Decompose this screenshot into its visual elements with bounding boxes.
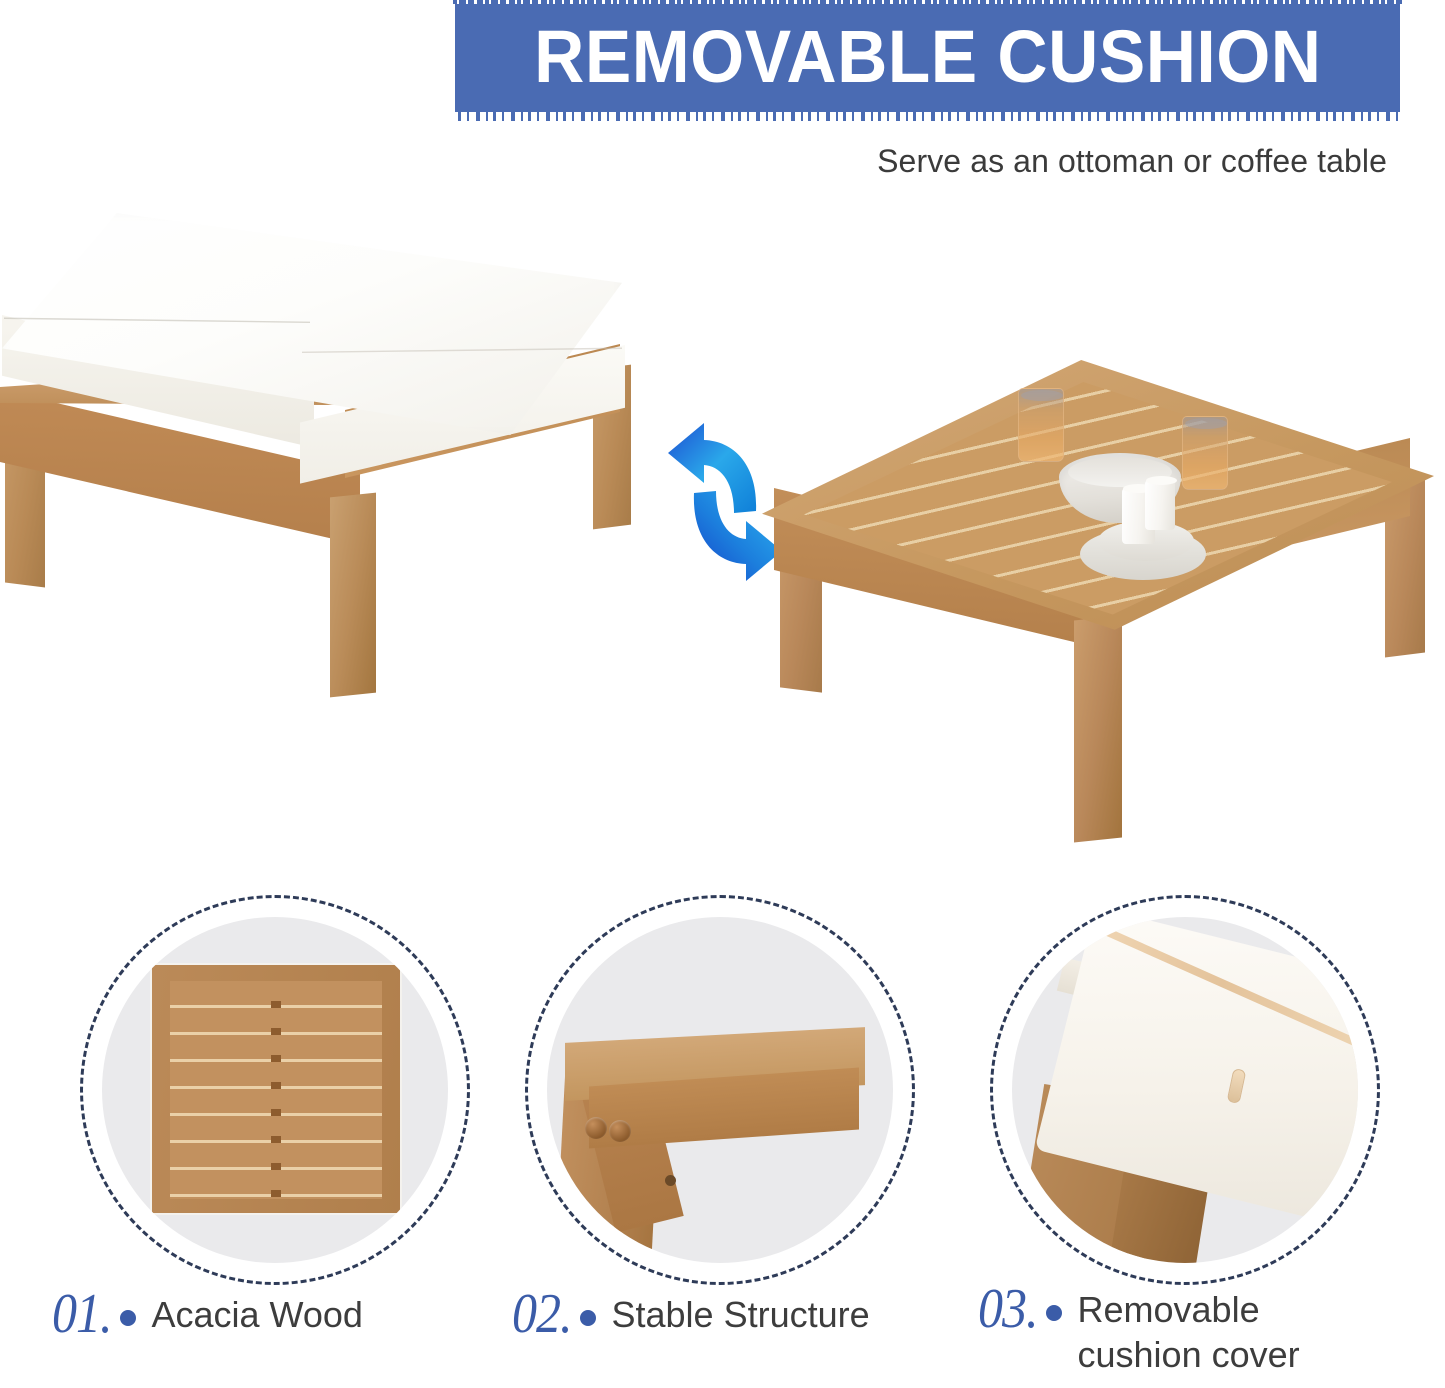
- coffee-table-product-image: [762, 360, 1434, 855]
- feature-number-3: 03.: [978, 1280, 1038, 1336]
- glass-tumbler-right: [1182, 416, 1228, 490]
- table-leg-front-center: [1074, 615, 1122, 842]
- feature-photo-2: [547, 917, 893, 1263]
- banner-title: REMOVABLE CUSHION: [534, 20, 1321, 98]
- feature-photo-1: [102, 917, 448, 1263]
- feature-number-2: 02.: [512, 1285, 572, 1341]
- feature-caption-2: 02. Stable Structure: [512, 1288, 870, 1338]
- joint-screw-2: [609, 1120, 631, 1142]
- feature-caption-1: 01. Acacia Wood: [52, 1288, 363, 1338]
- joint-screw-1: [585, 1117, 607, 1139]
- feature-label-1: Acacia Wood: [152, 1292, 363, 1337]
- glass-tumbler-left: [1018, 388, 1064, 462]
- infographic-page: REMOVABLE CUSHION Serve as an ottoman or…: [0, 0, 1445, 1388]
- bullet-dot-icon-3: [1046, 1305, 1062, 1321]
- hero-comparison-section: [0, 185, 1445, 875]
- panel-center-clips: [271, 981, 281, 1199]
- cushion-zipper-closeup-photo: [1012, 917, 1358, 1263]
- subtitle-text: Serve as an ottoman or coffee table: [877, 143, 1387, 180]
- feature-number-1: 01.: [52, 1285, 112, 1341]
- joint-pilot-hole: [665, 1175, 676, 1186]
- ottoman-leg-front-center: [330, 493, 376, 698]
- corner-joint-closeup-photo: [547, 917, 893, 1263]
- feature-photo-3: [1012, 917, 1358, 1263]
- feature-caption-3: 03. Removable cushion cover: [978, 1283, 1300, 1377]
- ottoman-product-image: [0, 195, 680, 695]
- pillar-candle-back: [1145, 480, 1175, 530]
- header-banner: REMOVABLE CUSHION: [455, 0, 1400, 117]
- feature-label-2: Stable Structure: [612, 1292, 870, 1337]
- bullet-dot-icon-1: [120, 1310, 136, 1326]
- bullet-dot-icon-2: [580, 1310, 596, 1326]
- slatted-wood-panel-photo: [152, 965, 400, 1213]
- feature-label-3: Removable cushion cover: [1078, 1287, 1300, 1377]
